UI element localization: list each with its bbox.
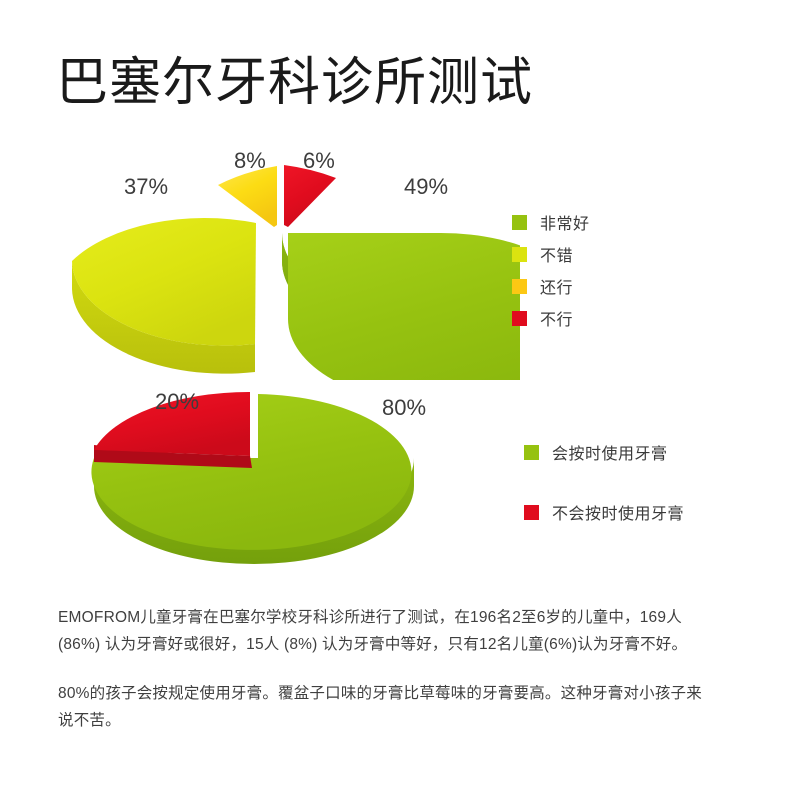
slice-very-good (286, 233, 520, 380)
legend-item-bad[interactable]: 不行 (512, 306, 590, 330)
legend-item-ok[interactable]: 还行 (512, 274, 590, 298)
pie-chart-usage: 80% 20% (80, 380, 510, 580)
legend-satisfaction: 非常好 不错 还行 不行 (512, 210, 590, 338)
legend-label-ok: 还行 (540, 274, 573, 298)
pie-chart-usage-graphic (80, 380, 510, 580)
legend-swatch-green-icon (512, 215, 527, 230)
legend-swatch-red-icon (524, 505, 539, 520)
legend-usage: 会按时使用牙膏 不会按时使用牙膏 (524, 440, 684, 560)
legend-item-not-bad[interactable]: 不错 (512, 242, 590, 266)
body-paragraph-2: 80%的孩子会按规定使用牙膏。覆盆子口味的牙膏比草莓味的牙膏要高。这种牙膏对小孩… (58, 680, 706, 734)
slice-label-not-bad: 37% (124, 174, 168, 200)
legend-item-not-on-time[interactable]: 不会按时使用牙膏 (524, 500, 684, 524)
body-copy: EMOFROM儿童牙膏在巴塞尔学校牙科诊所进行了测试，在196名2至6岁的儿童中… (58, 604, 706, 734)
legend-label-not-bad: 不错 (540, 242, 573, 266)
slice-label-on-time: 80% (382, 395, 426, 421)
legend-label-not-on-time: 不会按时使用牙膏 (552, 500, 684, 524)
page-title: 巴塞尔牙科诊所测试 (56, 52, 533, 114)
body-paragraph-1: EMOFROM儿童牙膏在巴塞尔学校牙科诊所进行了测试，在196名2至6岁的儿童中… (58, 604, 706, 658)
slice-label-ok: 8% (234, 148, 266, 174)
legend-label-bad: 不行 (540, 306, 573, 330)
legend-item-on-time[interactable]: 会按时使用牙膏 (524, 440, 684, 464)
legend-swatch-green-icon (524, 445, 539, 460)
legend-swatch-red-icon (512, 311, 527, 326)
slice-label-very-good: 49% (404, 174, 448, 200)
slice-label-bad: 6% (303, 148, 335, 174)
legend-item-very-good[interactable]: 非常好 (512, 210, 590, 234)
legend-label-very-good: 非常好 (540, 210, 590, 234)
legend-label-on-time: 会按时使用牙膏 (552, 440, 668, 464)
pie-chart-satisfaction: 49% 37% 8% 6% (60, 140, 520, 380)
legend-swatch-yellow-green-icon (512, 247, 527, 262)
poster-page: 巴塞尔牙科诊所测试 (0, 0, 800, 800)
slice-label-not-on-time: 20% (155, 389, 199, 415)
legend-swatch-yellow-icon (512, 279, 527, 294)
